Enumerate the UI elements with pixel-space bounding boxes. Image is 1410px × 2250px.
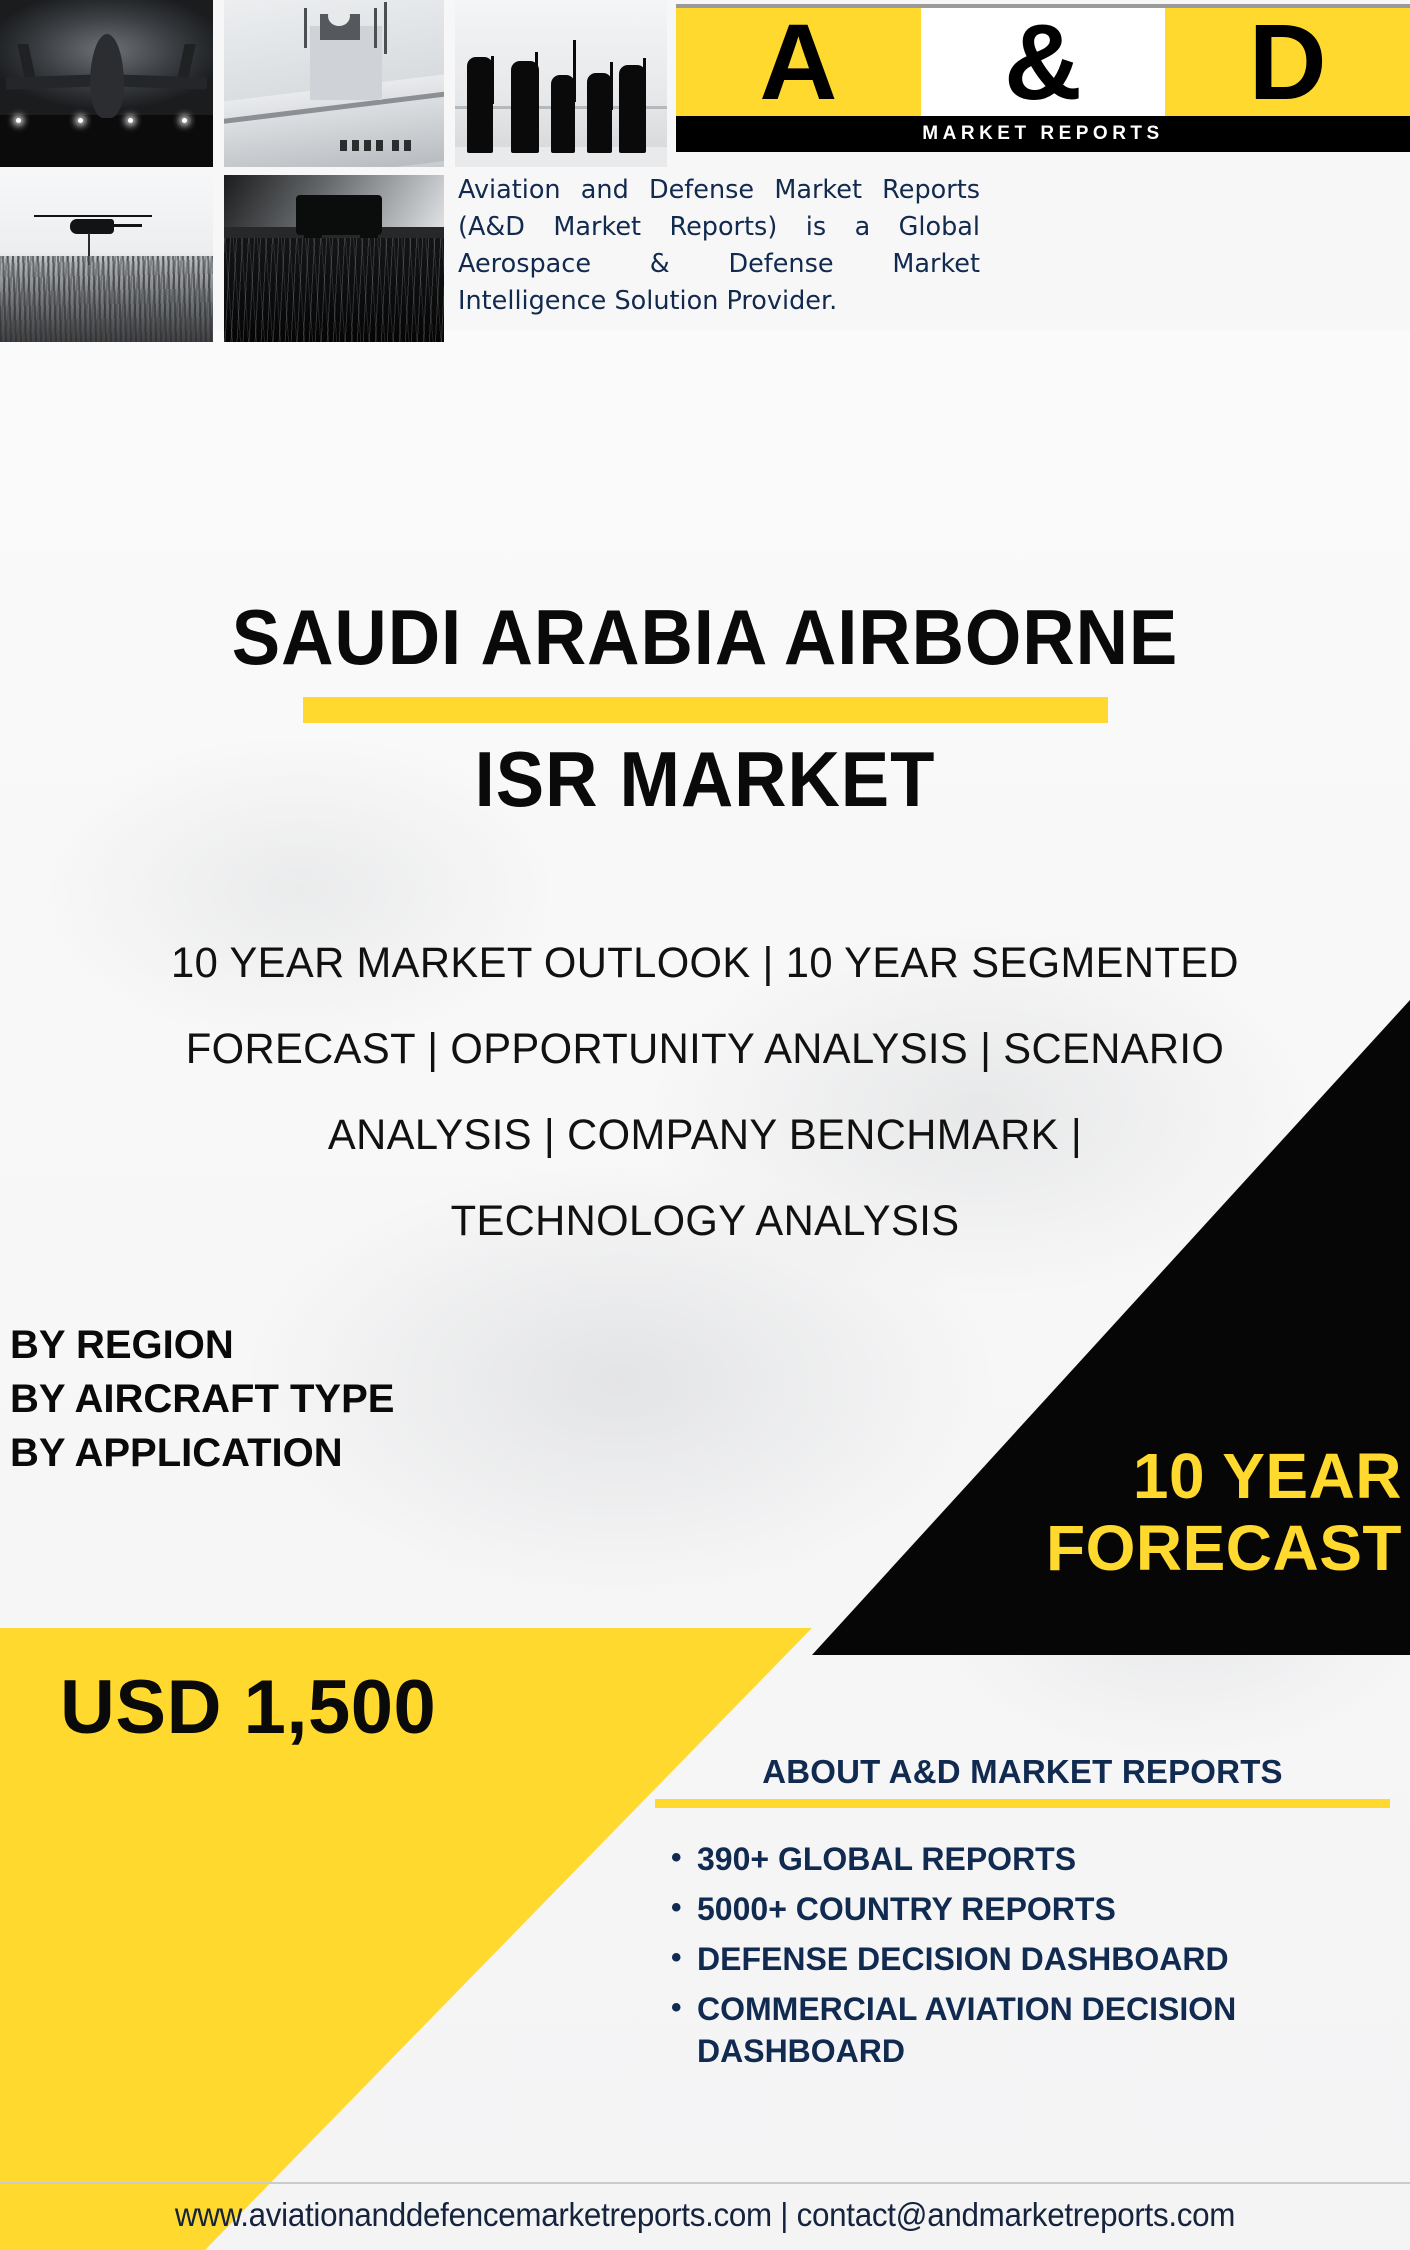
about-bullet-defense-dashboard: DEFENSE DECISION DASHBOARD [655,1938,1390,1980]
segment-item-region: BY REGION [10,1318,394,1372]
about-bullet-country-reports: 5000+ COUNTRY REPORTS [655,1888,1390,1930]
about-bullet-global-reports: 390+ GLOBAL REPORTS [655,1838,1390,1880]
company-intro-paragraph: Aviation and Defense Market Reports (A&D… [458,172,980,320]
logo-letter-d: D [1165,8,1410,116]
about-bullet-aviation-dashboard: COMMERCIAL AVIATION DECISION DASHBOARD [655,1988,1390,2072]
segment-item-application: BY APPLICATION [10,1426,394,1480]
segment-item-aircraft-type: BY AIRCRAFT TYPE [10,1372,394,1426]
subtitle-line-2: FORECAST | OPPORTUNITY ANALYSIS | SCENAR… [60,1006,1350,1092]
photo-warship [224,0,444,167]
logo-subtitle-bar: MARKET REPORTS [676,116,1410,152]
forecast-badge: 10 YEAR FORECAST [762,1440,1402,1584]
footer-divider [0,2182,1410,2184]
logo-letter-ampersand: & [921,8,1166,116]
footer-contact: www.aviationanddefencemarketreports.com … [35,2192,1375,2238]
segmentation-list: BY REGION BY AIRCRAFT TYPE BY APPLICATIO… [10,1318,394,1480]
report-title-line-1: SAUDI ARABIA AIRBORNE [49,595,1360,679]
about-heading: ABOUT A&D MARKET REPORTS [655,1752,1390,1792]
logo-letter-a: A [676,8,921,116]
logo-subtitle-text: MARKET REPORTS [922,123,1163,145]
subtitle-line-3: ANALYSIS | COMPANY BENCHMARK | [60,1092,1350,1178]
logo: A & D MARKET REPORTS [676,0,1410,152]
forecast-badge-line-2: FORECAST [762,1512,1402,1584]
price-value: USD 1,500 [60,1666,436,1750]
subtitle-line-1: 10 YEAR MARKET OUTLOOK | 10 YEAR SEGMENT… [60,920,1350,1006]
photo-armoured-vehicle [224,175,444,342]
about-bullet-list: 390+ GLOBAL REPORTS 5000+ COUNTRY REPORT… [655,1838,1390,2072]
title-underline-rule [303,697,1108,723]
photo-fighter-jet [0,0,213,167]
about-panel: ABOUT A&D MARKET REPORTS 390+ GLOBAL REP… [655,1752,1390,2080]
subtitle-line-4: TECHNOLOGY ANALYSIS [60,1178,1350,1264]
photo-soldiers [455,0,667,167]
report-scope-subtitle: 10 YEAR MARKET OUTLOOK | 10 YEAR SEGMENT… [60,920,1350,1264]
about-underline-rule [655,1799,1390,1808]
forecast-badge-line-1: 10 YEAR [762,1440,1402,1512]
report-title-block: SAUDI ARABIA AIRBORNE ISR MARKET [0,595,1410,821]
logo-letters: A & D [676,8,1410,116]
photo-helicopter [0,175,213,342]
report-title-line-2: ISR MARKET [49,737,1360,821]
